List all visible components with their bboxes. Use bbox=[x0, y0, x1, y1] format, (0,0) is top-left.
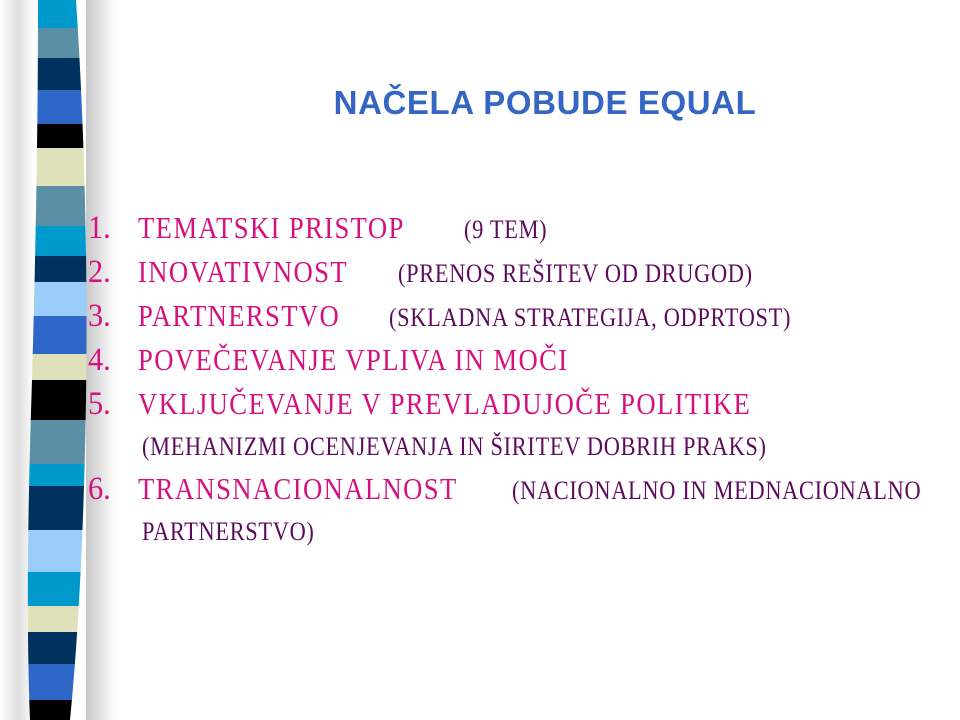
list-item: 1.TEMATSKI PRISTOP(9 TEM) bbox=[88, 212, 960, 245]
list-item-text: TRANSNACIONALNOST bbox=[138, 473, 458, 504]
list-item-row: 4.POVEČEVANJE VPLIVA IN MOČI bbox=[88, 344, 960, 377]
principles-list: 1.TEMATSKI PRISTOP(9 TEM)2.INOVATIVNOST(… bbox=[88, 212, 960, 558]
list-item: 3.PARTNERSTVO(SKLADNA STRATEGIJA, ODPRTO… bbox=[88, 300, 960, 333]
list-item-row: 6.TRANSNACIONALNOST(NACIONALNO IN MEDNAC… bbox=[88, 473, 960, 506]
list-item-parenthetical: (NACIONALNO IN MEDNACIONALNO bbox=[512, 478, 921, 504]
list-item-number: 1. bbox=[88, 212, 134, 245]
list-item: 2.INOVATIVNOST(PRENOS REŠITEV OD DRUGOD) bbox=[88, 256, 960, 289]
ribbon-band bbox=[20, 0, 104, 29]
list-item-continuation-text: PARTNERSTVO) bbox=[142, 517, 315, 547]
list-item-number: 3. bbox=[88, 300, 134, 333]
list-item: 4.POVEČEVANJE VPLIVA IN MOČI bbox=[88, 344, 960, 377]
ribbon-band bbox=[20, 90, 104, 125]
list-item-row: 5.VKLJUČEVANJE V PREVLADUJOČE POLITIKE bbox=[88, 388, 960, 421]
ribbon-band bbox=[20, 124, 104, 149]
list-item-parenthetical: (9 TEM) bbox=[464, 217, 547, 243]
ribbon-band bbox=[20, 572, 104, 607]
slide-title: NAČELA POBUDE EQUAL bbox=[150, 84, 940, 122]
list-item-continuation-text: (MEHANIZMI OCENJEVANJA IN ŠIRITEV DOBRIH… bbox=[142, 432, 767, 462]
list-item-number: 2. bbox=[88, 256, 134, 289]
list-item-row: 2.INOVATIVNOST(PRENOS REŠITEV OD DRUGOD) bbox=[88, 256, 960, 289]
list-item-number: 6. bbox=[88, 473, 134, 506]
list-item-number: 5. bbox=[88, 388, 134, 421]
list-item: 5.VKLJUČEVANJE V PREVLADUJOČE POLITIKE bbox=[88, 388, 960, 421]
list-item-text: PARTNERSTVO bbox=[138, 300, 340, 331]
list-item-text: INOVATIVNOST bbox=[138, 256, 348, 287]
list-item-number: 4. bbox=[88, 344, 134, 377]
list-item: 6.TRANSNACIONALNOST(NACIONALNO IN MEDNAC… bbox=[88, 473, 960, 506]
list-item-parenthetical: (PRENOS REŠITEV OD DRUGOD) bbox=[398, 261, 753, 287]
ribbon-band bbox=[20, 700, 104, 720]
ribbon-band bbox=[20, 664, 104, 701]
ribbon-band bbox=[20, 632, 104, 665]
ribbon-band bbox=[20, 58, 104, 91]
list-item-parenthetical: (SKLADNA STRATEGIJA, ODPRTOST) bbox=[389, 305, 791, 331]
list-item-continuation: PARTNERSTVO) bbox=[140, 517, 960, 547]
list-item-text: VKLJUČEVANJE V PREVLADUJOČE POLITIKE bbox=[138, 388, 751, 419]
list-item-continuation: (MEHANIZMI OCENJEVANJA IN ŠIRITEV DOBRIH… bbox=[140, 432, 960, 462]
list-item-row: 3.PARTNERSTVO(SKLADNA STRATEGIJA, ODPRTO… bbox=[88, 300, 960, 333]
ribbon-band bbox=[20, 28, 104, 59]
list-item-row: 1.TEMATSKI PRISTOP(9 TEM) bbox=[88, 212, 960, 245]
ribbon-band bbox=[20, 148, 104, 187]
ribbon-band bbox=[20, 606, 104, 633]
list-item-text: TEMATSKI PRISTOP bbox=[138, 212, 405, 243]
list-item-text: POVEČEVANJE VPLIVA IN MOČI bbox=[138, 344, 569, 375]
slide-canvas: NAČELA POBUDE EQUAL 1.TEMATSKI PRISTOP(9… bbox=[0, 0, 960, 720]
